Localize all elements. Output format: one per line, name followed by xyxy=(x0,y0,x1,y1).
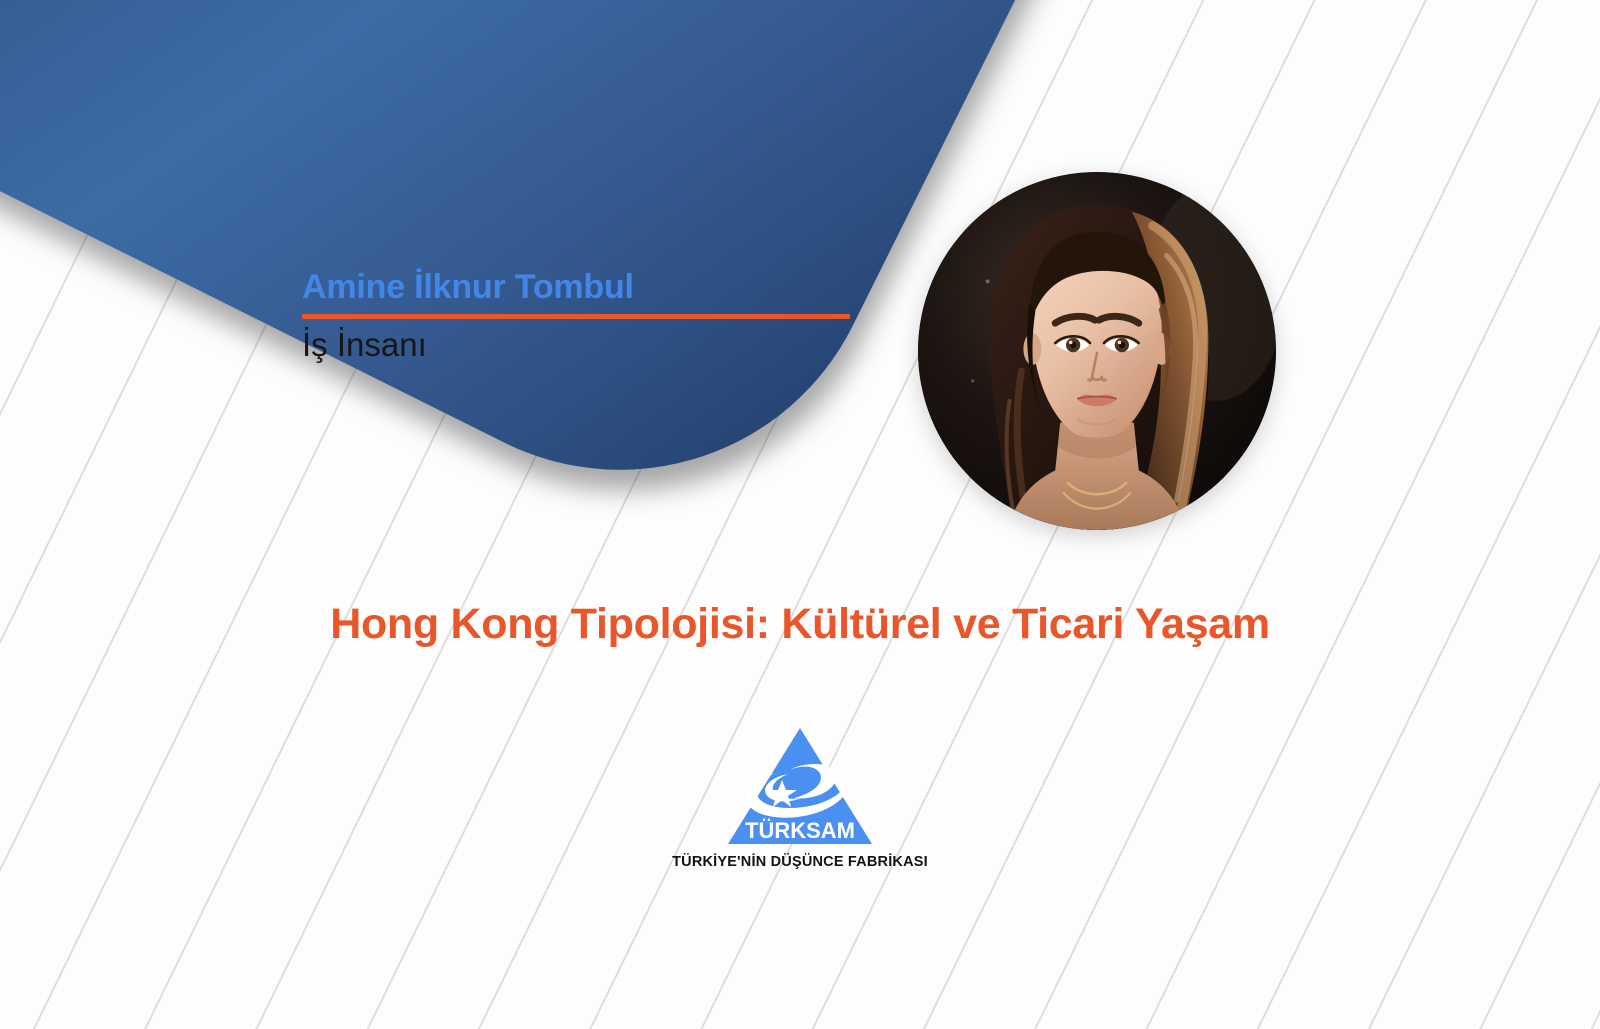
turksam-wordmark: TÜRKSAM xyxy=(745,818,855,843)
speaker-name-underline xyxy=(302,314,850,319)
speaker-portrait xyxy=(918,172,1276,530)
speaker-name: Amine İlknur Tombul xyxy=(302,268,862,307)
page-title: Hong Kong Tipolojisi: Kültürel ve Ticari… xyxy=(0,600,1600,649)
slide-canvas: Amine İlknur Tombul İş İnsanı xyxy=(0,0,1600,1029)
speaker-info-block: Amine İlknur Tombul İş İnsanı xyxy=(302,268,862,364)
turksam-logo-icon: TÜRKSAM xyxy=(720,722,880,850)
turksam-tagline: TÜRKİYE'NİN DÜŞÜNCE FABRİKASI xyxy=(672,854,928,870)
portrait-illustration xyxy=(918,172,1276,530)
turksam-logo: TÜRKSAM TÜRKİYE'NİN DÜŞÜNCE FABRİKASI xyxy=(0,722,1600,870)
speaker-role: İş İnsanı xyxy=(302,326,862,364)
